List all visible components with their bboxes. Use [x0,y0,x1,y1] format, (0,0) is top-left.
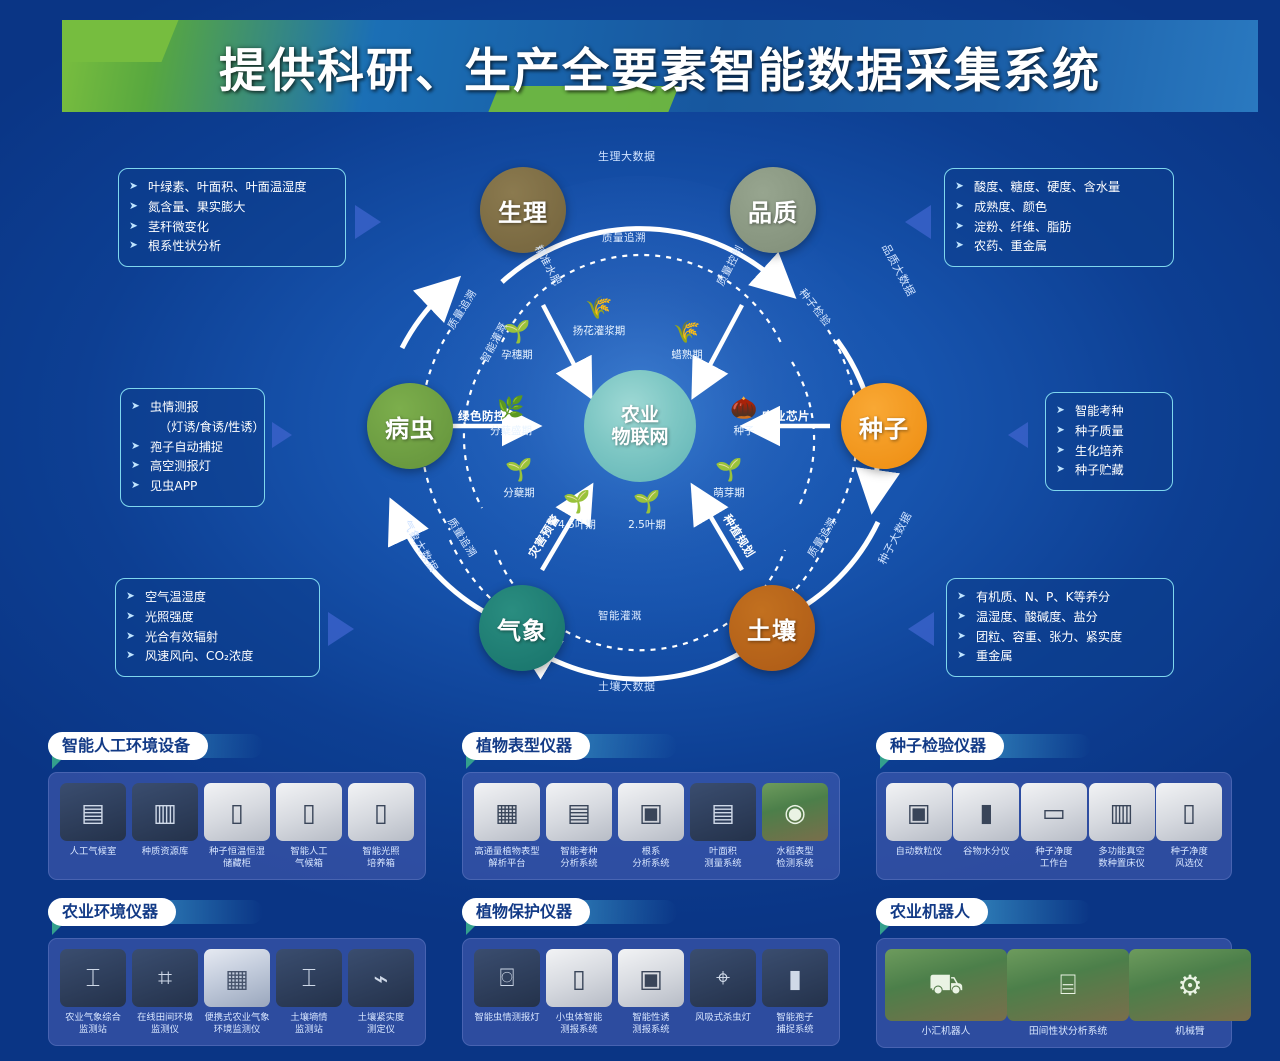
product-panel: ⌶ 农业气象综合监测站 ⌗ 在线田间环境监测仪 ▦ 便携式农业气象环境监测仪 ⌶… [48,938,426,1046]
label-physiology-bigdata: 生理大数据 [598,148,656,164]
product-label: 智能虫情测报灯 [471,1012,543,1024]
product-label: 便携式农业气象环境监测仪 [201,1012,273,1037]
info-item: 智能考种 [1056,402,1160,422]
info-box-physiology: 叶绿素、叶面积、叶面温湿度 氮含量、果实膨大 茎秆微变化 根系性状分析 [118,168,346,267]
info-item: 温湿度、酸碱度、盐分 [957,608,1161,628]
product-item[interactable]: ▣ 智能性诱测报系统 [615,949,687,1037]
section-tab-wrap: 植物表型仪器 [462,732,840,772]
info-item: 茎秆微变化 [129,218,333,238]
sprout-icon: 🌱 [690,460,768,482]
hub-line2: 物联网 [611,426,668,448]
product-label: 多功能真空数种置床仪 [1088,846,1156,871]
info-item: 有机质、N、P、K等养分 [957,588,1161,608]
section-plant-protection: 植物保护仪器 ⌼ 智能虫情测报灯 ▯ 小虫体智能测报系统 ▣ 智能性诱测报系统 … [462,898,840,1046]
seedling-icon: 🌱 [608,492,686,514]
info-item: 虫情测报 [131,398,252,418]
info-item: 重金属 [957,647,1161,667]
section-title: 植物表型仪器 [462,732,590,760]
node-label: 生理 [498,193,548,228]
portable-monitor-icon: ▦ [204,949,270,1007]
seed-cabinet-icon: ▯ [204,783,270,841]
section-tab-wrap: 农业环境仪器 [48,898,426,938]
info-item: 酸度、糖度、硬度、含水量 [955,178,1161,198]
section-tab-wrap: 植物保护仪器 [462,898,840,938]
header-banner: 提供科研、生产全要素智能数据采集系统 [62,20,1258,112]
product-label: 土壤紧实度测定仪 [345,1012,417,1037]
section-tab-wrap: 农业机器人 [876,898,1232,938]
product-label: 土壤墒情监测站 [273,1012,345,1037]
info-box-seed: 智能考种 种子质量 生化培养 种子贮藏 [1045,392,1173,491]
product-item[interactable]: ⌶ 农业气象综合监测站 [57,949,129,1037]
page-title: 提供科研、生产全要素智能数据采集系统 [62,20,1258,112]
info-item: 风速风向、CO₂浓度 [126,647,307,667]
product-item[interactable]: ⌼ 智能虫情测报灯 [471,949,543,1024]
node-label: 土壤 [747,611,797,646]
node-quality[interactable]: 品质 [730,167,816,253]
suction-lamp-icon: ⌖ [690,949,756,1007]
section-agri-environment: 农业环境仪器 ⌶ 农业气象综合监测站 ⌗ 在线田间环境监测仪 ▦ 便携式农业气象… [48,898,426,1046]
product-label: 种子恒温恒湿储藏柜 [201,846,273,871]
node-seed[interactable]: 种子 [841,383,927,469]
info-item: 农药、重金属 [955,237,1161,257]
leaf-area-meter-icon: ▤ [690,783,756,841]
info-item: 根系性状分析 [129,237,333,257]
product-item[interactable]: ▣ 根系分析系统 [615,783,687,871]
air-separator-icon: ▯ [1156,783,1222,841]
info-item: 团粒、容重、张力、紧实度 [957,628,1161,648]
stage-25leaf: 🌱 2.5叶期 [608,492,686,532]
product-label: 小汇机器人 [885,1026,1007,1039]
product-item[interactable]: ▦ 高通量植物表型解析平台 [471,783,543,871]
product-panel: ⌼ 智能虫情测报灯 ▯ 小虫体智能测报系统 ▣ 智能性诱测报系统 ⌖ 风吸式杀虫… [462,938,840,1046]
product-item[interactable]: ▯ 种子净度风选仪 [1155,783,1223,871]
section-smart-environment: 智能人工环境设备 ▤ 人工气候室 ▥ 种质资源库 ▯ 种子恒温恒湿储藏柜 ▯ 智… [48,732,426,880]
info-item: 光合有效辐射 [126,628,307,648]
section-title: 农业机器人 [876,898,988,926]
product-label: 人工气候室 [57,846,129,858]
product-item[interactable]: ▯ 智能光照培养箱 [345,783,417,871]
product-label: 小虫体智能测报系统 [543,1012,615,1037]
micro-insect-system-icon: ▯ [546,949,612,1007]
section-plant-phenotype: 植物表型仪器 ▦ 高通量植物表型解析平台 ▤ 智能考种分析系统 ▣ 根系分析系统… [462,732,840,880]
product-item[interactable]: ⛟ 小汇机器人 [885,949,1007,1039]
product-label: 田间性状分析系统 [1007,1026,1129,1039]
section-title: 智能人工环境设备 [48,732,208,760]
product-label: 种子净度风选仪 [1155,846,1223,871]
spore-trap-icon: ▮ [762,949,828,1007]
section-title: 农业环境仪器 [48,898,176,926]
node-soil[interactable]: 土壤 [729,585,815,671]
product-label: 谷物水分仪 [953,846,1021,858]
product-panel: ▣ 自动数粒仪 ▮ 谷物水分仪 ▭ 种子净度工作台 ▥ 多功能真空数种置床仪 ▯… [876,772,1232,880]
info-item: 生化培养 [1056,442,1160,462]
purity-bench-icon: ▭ [1021,783,1087,841]
node-label: 品质 [748,193,798,228]
product-label: 智能孢子捕捉系统 [759,1012,831,1037]
product-label: 种子净度工作台 [1020,846,1088,871]
product-panel: ▦ 高通量植物表型解析平台 ▤ 智能考种分析系统 ▣ 根系分析系统 ▤ 叶面积测… [462,772,840,880]
info-item: 光照强度 [126,608,307,628]
product-item[interactable]: ▣ 自动数粒仪 [885,783,953,858]
seed-test-analyzer-icon: ▤ [546,783,612,841]
info-item-sub: （灯诱/食诱/性诱） [131,418,252,438]
infographic-page: 提供科研、生产全要素智能数据采集系统 叶绿素、叶面积、叶面温湿度 氮含量、果实膨… [0,0,1280,1061]
chamber-room-icon: ▤ [60,783,126,841]
info-item: 种子质量 [1056,422,1160,442]
label-smart-irrigation-bottom: 智能灌溉 [598,608,642,623]
info-box-weather: 空气温湿度 光照强度 光合有效辐射 风速风向、CO₂浓度 [115,578,320,677]
section-tab-wrap: 智能人工环境设备 [48,732,426,772]
node-weather[interactable]: 气象 [479,585,565,671]
center-hub: 农业 物联网 [584,370,696,482]
product-item[interactable]: ⌶ 土壤墒情监测站 [273,949,345,1037]
product-label: 种质资源库 [129,846,201,858]
section-agri-robots: 农业机器人 ⛟ 小汇机器人 ⌸ 田间性状分析系统 ⚙ 机械臂 [876,898,1232,1048]
rice-plant-icon: 🌾 [560,298,638,320]
product-item[interactable]: ▯ 小虫体智能测报系统 [543,949,615,1037]
light-incubator-icon: ▯ [348,783,414,841]
node-label: 种子 [859,409,909,444]
node-label: 病虫 [385,409,435,444]
phenotype-platform-icon: ▦ [474,783,540,841]
climate-box-icon: ▯ [276,783,342,841]
product-label: 智能考种分析系统 [543,846,615,871]
product-item[interactable]: ▮ 谷物水分仪 [953,783,1021,858]
cycle-diagram: 农业 物联网 生理 品质 种子 土壤 气象 病虫 🌾 扬花灌浆期 🌱 孕穗期 [330,130,950,710]
info-item: 见虫APP [131,477,252,497]
product-label: 风吸式杀虫灯 [687,1012,759,1024]
info-item: 叶绿素、叶面积、叶面温湿度 [129,178,333,198]
node-label: 气象 [497,611,547,646]
germplasm-vault-icon: ▥ [132,783,198,841]
product-item[interactable]: ▯ 种子恒温恒湿储藏柜 [201,783,273,871]
soil-compaction-icon: ⌁ [348,949,414,1007]
info-box-quality: 酸度、糖度、硬度、含水量 成熟度、颜色 淀粉、纤维、脂肪 农药、重金属 [944,168,1174,267]
info-item: 成熟度、颜色 [955,198,1161,218]
info-box-pest: 虫情测报 （灯诱/食诱/性诱） 孢子自动捕捉 高空测报灯 见虫APP [120,388,265,507]
info-item: 空气温湿度 [126,588,307,608]
product-panel: ⛟ 小汇机器人 ⌸ 田间性状分析系统 ⚙ 机械臂 [876,938,1232,1048]
product-label: 高通量植物表型解析平台 [471,846,543,871]
product-item[interactable]: ▤ 叶面积测量系统 [687,783,759,871]
product-item[interactable]: ◉ 水稻表型检测系统 [759,783,831,871]
product-item[interactable]: ▭ 种子净度工作台 [1020,783,1088,871]
rice-plant-icon: 🌱 [480,460,558,482]
product-label: 智能人工气候箱 [273,846,345,871]
product-label: 农业气象综合监测站 [57,1012,129,1037]
grain-moisture-icon: ▮ [953,783,1019,841]
vacuum-seeder-icon: ▥ [1089,783,1155,841]
info-item: 淀粉、纤维、脂肪 [955,218,1161,238]
product-item[interactable]: ▦ 便携式农业气象环境监测仪 [201,949,273,1037]
section-title: 植物保护仪器 [462,898,590,926]
info-item: 孢子自动捕捉 [131,438,252,458]
product-label: 在线田间环境监测仪 [129,1012,201,1037]
info-item: 高空测报灯 [131,457,252,477]
product-label: 根系分析系统 [615,846,687,871]
info-box-soil: 有机质、N、P、K等养分 温湿度、酸碱度、盐分 团粒、容重、张力、紧实度 重金属 [946,578,1174,677]
label-soil-bigdata: 土壤大数据 [598,678,656,694]
section-tab-wrap: 种子检验仪器 [876,732,1232,772]
label-green-control: 绿色防控 [458,408,506,424]
product-label: 叶面积测量系统 [687,846,759,871]
stage-lashu: 🌾 蜡熟期 [648,322,726,362]
product-item[interactable]: ⌸ 田间性状分析系统 [1007,949,1129,1039]
connector-chevron-pest [272,422,292,448]
section-seed-inspection: 种子检验仪器 ▣ 自动数粒仪 ▮ 谷物水分仪 ▭ 种子净度工作台 ▥ 多功能真空… [876,732,1232,880]
product-item[interactable]: ⌖ 风吸式杀虫灯 [687,949,759,1024]
product-item[interactable]: ▯ 智能人工气候箱 [273,783,345,871]
stage-yanghua: 🌾 扬花灌浆期 [560,298,638,338]
product-item[interactable]: ▤ 智能考种分析系统 [543,783,615,871]
node-pest[interactable]: 病虫 [367,383,453,469]
robot-arm-icon: ⚙ [1129,949,1251,1021]
label-quality-trace-top: 质量追溯 [602,230,646,245]
product-item[interactable]: ▥ 多功能真空数种置床仪 [1088,783,1156,871]
pest-lamp-icon: ⌼ [474,949,540,1007]
section-title: 种子检验仪器 [876,732,1004,760]
seed-counter-icon: ▣ [886,783,952,841]
info-item: 氮含量、果实膨大 [129,198,333,218]
connector-chevron-seed [1008,422,1028,448]
product-item[interactable]: ⌗ 在线田间环境监测仪 [129,949,201,1037]
root-analyzer-icon: ▣ [618,783,684,841]
product-label: 水稻表型检测系统 [759,846,831,871]
product-label: 智能性诱测报系统 [615,1012,687,1037]
field-robot-icon: ⛟ [885,949,1007,1021]
hub-line1: 农业 [621,404,659,426]
node-physiology[interactable]: 生理 [480,167,566,253]
product-item[interactable]: ⌁ 土壤紧实度测定仪 [345,949,417,1037]
rice-phenotype-icon: ◉ [762,783,828,841]
product-item[interactable]: ▥ 种质资源库 [129,783,201,858]
soil-moisture-station-icon: ⌶ [276,949,342,1007]
trait-gantry-icon: ⌸ [1007,949,1129,1021]
product-label: 机械臂 [1129,1026,1251,1039]
field-monitor-icon: ⌗ [132,949,198,1007]
rice-plant-icon: 🌾 [648,322,726,344]
product-label: 自动数粒仪 [885,846,953,858]
product-item[interactable]: ▮ 智能孢子捕捉系统 [759,949,831,1037]
weather-station-icon: ⌶ [60,949,126,1007]
product-panel: ▤ 人工气候室 ▥ 种质资源库 ▯ 种子恒温恒湿储藏柜 ▯ 智能人工气候箱 ▯ … [48,772,426,880]
label-agri-chip: 农业芯片 [762,408,810,424]
product-label: 智能光照培养箱 [345,846,417,871]
product-item[interactable]: ⚙ 机械臂 [1129,949,1251,1039]
product-item[interactable]: ▤ 人工气候室 [57,783,129,858]
pheromone-system-icon: ▣ [618,949,684,1007]
info-item: 种子贮藏 [1056,461,1160,481]
stage-mengya: 🌱 萌芽期 [690,460,768,500]
